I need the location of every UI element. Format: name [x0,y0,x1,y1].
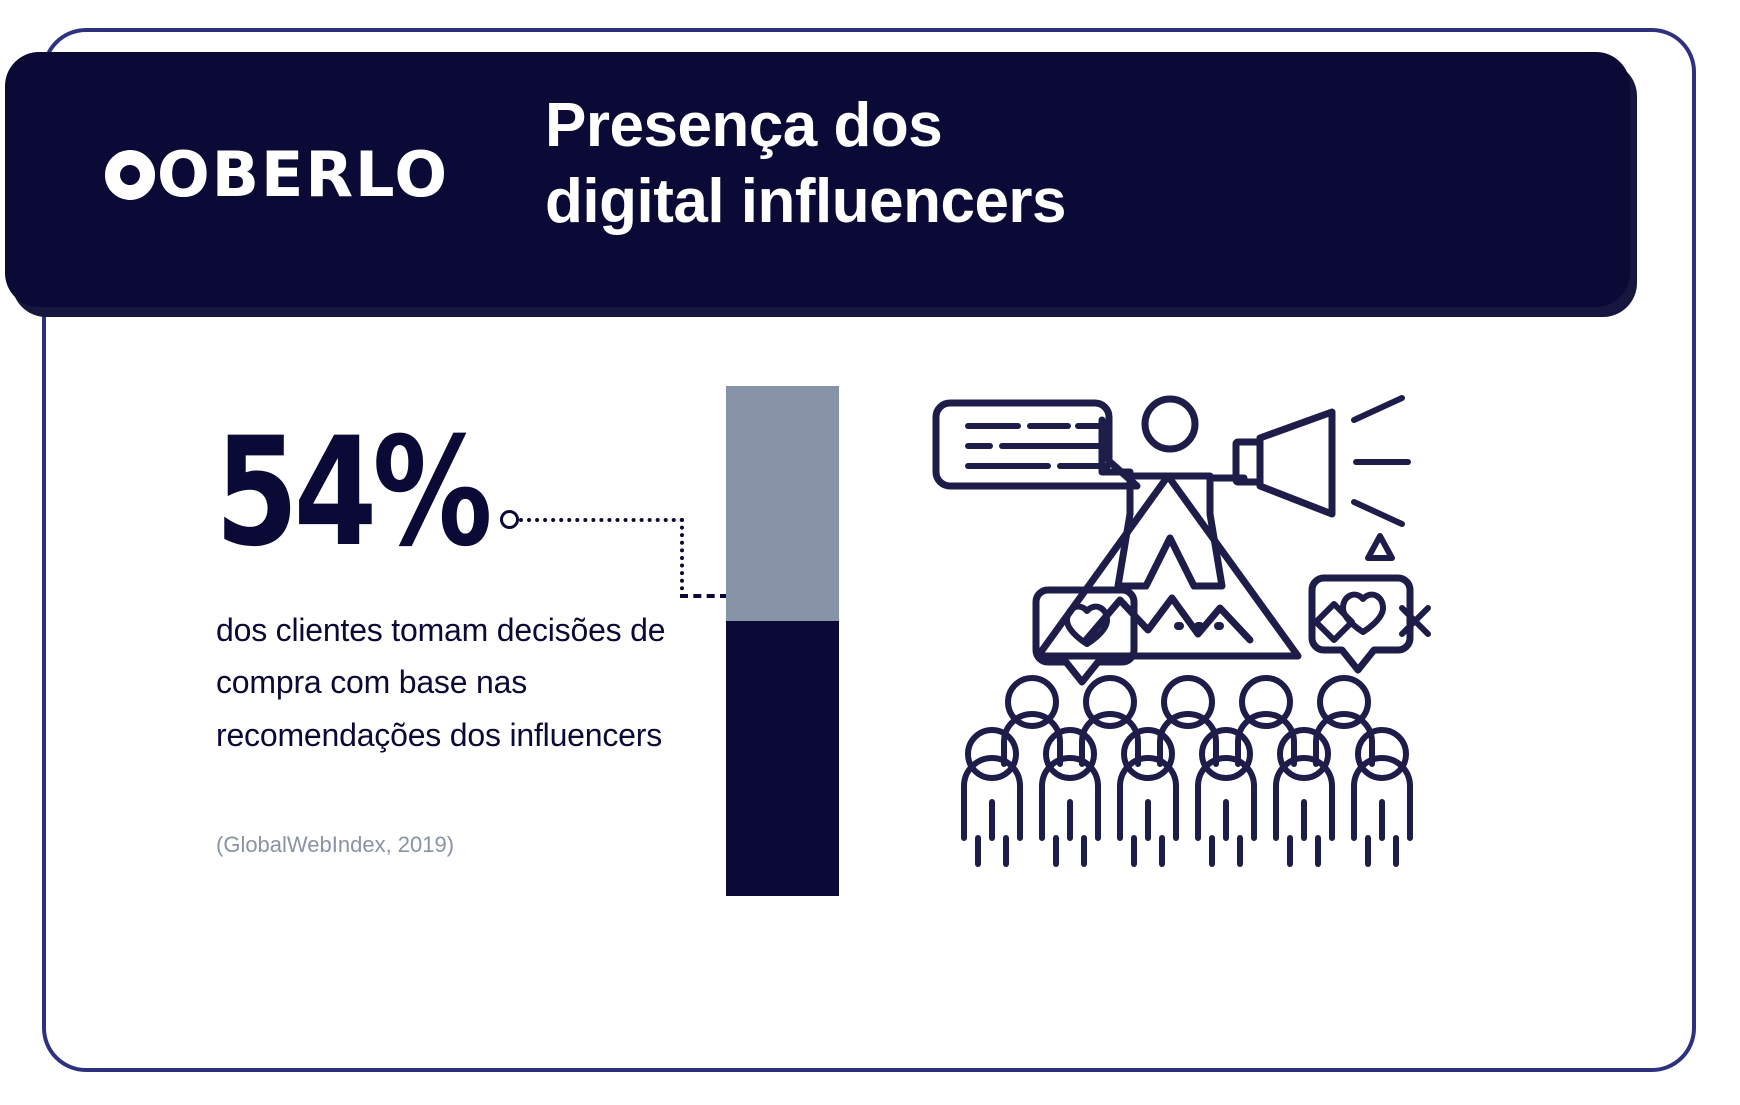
connector-line-horizontal-top [519,518,684,522]
connector-dot-icon [500,510,519,529]
stat-description: dos clientes tomam decisões de compra co… [216,604,716,761]
page-title-line-1: Presença dos [545,88,1565,164]
crowd-icon [964,678,1410,864]
sound-lines-icon [1354,398,1408,524]
stat-source: (GlobalWebIndex, 2019) [216,832,716,858]
heart-bubble-right-icon [1312,578,1410,670]
person-with-megaphone-icon [1102,399,1244,586]
bar-segment-remainder [726,386,839,621]
cross-icon [1402,608,1428,634]
megaphone-icon [1236,412,1332,514]
connector-line-horizontal-bottom [680,594,728,598]
crowd-back-row [1004,678,1372,764]
oberlo-logo-text: OBERLO [157,144,449,206]
influencer-illustration [920,368,1440,868]
bar-segment-value [726,621,839,896]
mountain-icon [1038,476,1298,656]
page-title-line-2: digital influencers [545,164,1565,240]
stat-bar-chart [726,386,839,896]
crowd-front-row [964,730,1410,864]
stat-value: 54% [215,418,488,568]
connector-line-vertical [680,518,684,598]
infographic-canvas: OBERLO Presença dos digital influencers … [0,0,1740,1105]
page-title: Presença dos digital influencers [545,88,1565,239]
oberlo-logo[interactable]: OBERLO [105,144,449,206]
oberlo-circle-o-icon [105,150,155,200]
triangle-icon [1368,536,1392,558]
